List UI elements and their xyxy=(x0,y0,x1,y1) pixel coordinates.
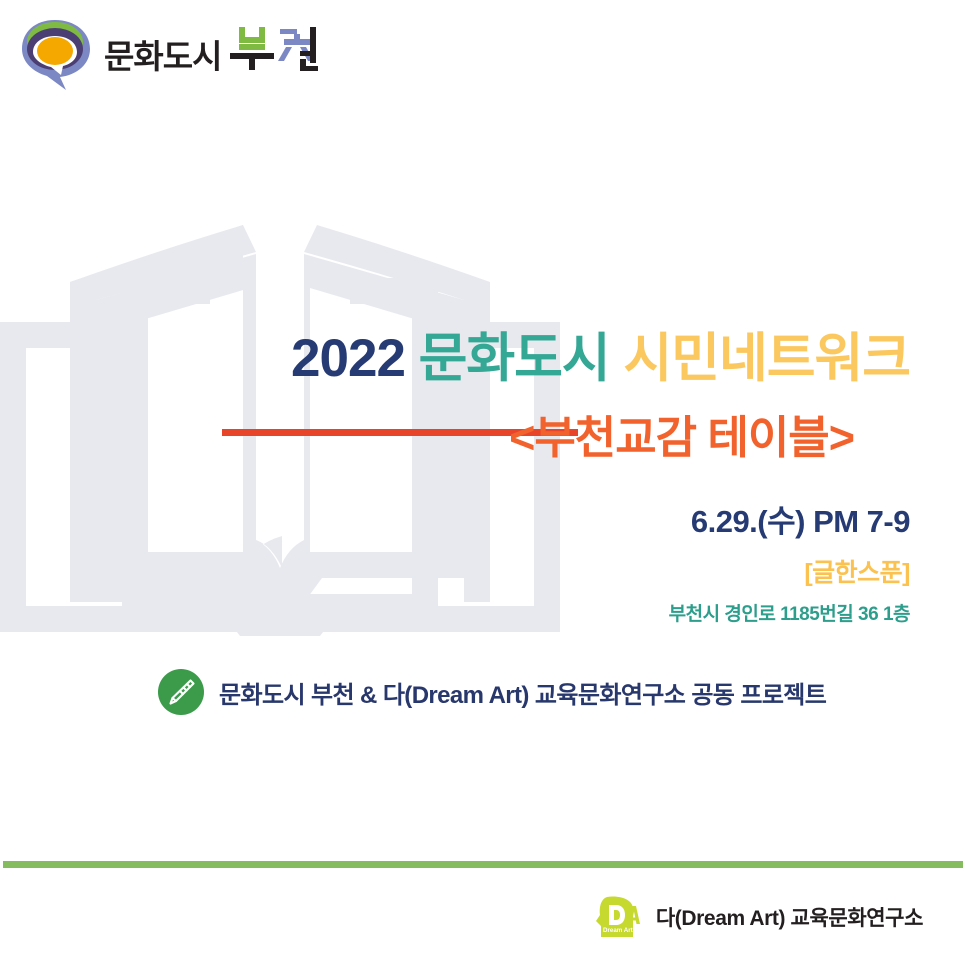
poster-canvas: 문화도시 ㅂ xyxy=(0,0,966,966)
title-culture-city: 문화도시 xyxy=(419,329,610,388)
event-address: 부천시 경인로 1185번길 36 1층 xyxy=(0,599,910,626)
svg-text:문화도시: 문화도시 xyxy=(104,38,221,75)
bottom-green-divider xyxy=(3,861,963,868)
event-info-block: 6.29.(수) PM 7-9 [글한스푼] 부천시 경인로 1185번길 36… xyxy=(0,496,910,626)
event-venue: [글한스푼] xyxy=(0,553,910,589)
svg-text:Dream Art: Dream Art xyxy=(603,927,633,934)
subtitle-text: <부천교감 테이블> xyxy=(509,401,854,466)
title-year: 2022 xyxy=(291,329,405,388)
brand-header: 문화도시 ㅂ xyxy=(14,12,319,94)
footer-row: Dream Art 다(Dream Art) 교육문화연구소 xyxy=(593,893,923,941)
speech-bubble-logo-icon xyxy=(14,12,96,94)
main-title: 2022 문화도시 시민네트워크 xyxy=(0,330,910,387)
dream-art-head-logo-icon: Dream Art xyxy=(593,893,645,941)
project-credit-text: 문화도시 부천 & 다(Dream Art) 교육문화연구소 공동 프로젝트 xyxy=(219,675,826,710)
pencil-icon xyxy=(157,668,205,716)
event-date: 6.29.(수) PM 7-9 xyxy=(0,496,910,541)
title-citizen-network: 시민네트워크 xyxy=(623,329,910,388)
title-block: 2022 문화도시 시민네트워크 <부천교감 테이블> xyxy=(0,330,910,459)
project-credit-row: 문화도시 부천 & 다(Dream Art) 교육문화연구소 공동 프로젝트 xyxy=(157,668,826,716)
subtitle-row: <부천교감 테이블> xyxy=(0,401,910,459)
footer-organization-name: 다(Dream Art) 교육문화연구소 xyxy=(656,902,923,932)
brand-wordmark: 문화도시 ㅂ xyxy=(104,25,319,81)
